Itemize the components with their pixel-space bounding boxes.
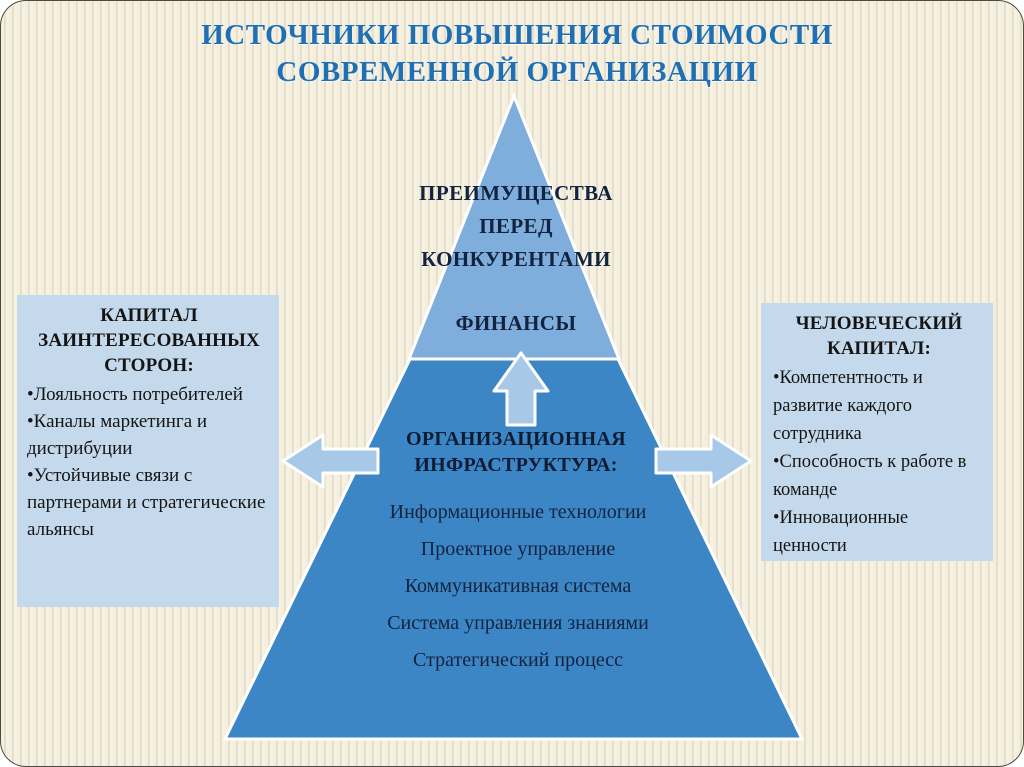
list-item: •Инновационные ценности: [773, 504, 985, 560]
stakeholder-capital-heading-line-1: КАПИТАЛ: [27, 303, 271, 328]
page-title: ИСТОЧНИКИ ПОВЫШЕНИЯ СТОИМОСТИ СОВРЕМЕННО…: [197, 17, 837, 91]
pyramid-bottom-heading-line-2: ИНФРАСТРУКТУРА:: [321, 452, 711, 478]
human-capital-heading-line-2: КАПИТАЛ:: [773, 336, 985, 361]
pyramid-bottom-heading: ОРГАНИЗАЦИОННАЯ ИНФРАСТРУКТУРА:: [321, 426, 711, 478]
list-item: •Лояльность потребителей: [27, 381, 271, 408]
pyramid-bottom-item: Информационные технологии: [283, 494, 753, 531]
pyramid-finance-label: ФИНАНСЫ: [361, 311, 671, 336]
pyramid-bottom-item: Коммуникативная система: [283, 568, 753, 605]
list-item: •Устойчивые связи с партнерами и стратег…: [27, 462, 271, 543]
pyramid-top-heading-line-3: КОНКУРЕНТАМИ: [331, 243, 701, 276]
pyramid-top-heading: ПРЕИМУЩЕСТВА ПЕРЕД КОНКУРЕНТАМИ: [331, 177, 701, 276]
list-item: •Каналы маркетинга и дистрибуции: [27, 408, 271, 462]
human-capital-box: ЧЕЛОВЕЧЕСКИЙ КАПИТАЛ: •Компетентность и …: [761, 303, 993, 561]
page-title-line-1: ИСТОЧНИКИ ПОВЫШЕНИЯ СТОИМОСТИ: [197, 17, 837, 54]
list-item: •Компетентность и развитие каждого сотру…: [773, 364, 985, 448]
stakeholder-capital-heading-line-2: ЗАИНТЕРЕСОВАННЫХ: [27, 328, 271, 353]
pyramid-bottom-heading-line-1: ОРГАНИЗАЦИОННАЯ: [321, 426, 711, 452]
stakeholder-capital-heading-line-3: СТОРОН:: [27, 353, 271, 378]
pyramid-top-heading-line-1: ПРЕИМУЩЕСТВА: [331, 177, 701, 210]
list-item: •Способность к работе в команде: [773, 448, 985, 504]
pyramid-top-heading-line-2: ПЕРЕД: [331, 210, 701, 243]
pyramid-bottom-item: Система управления знаниями: [283, 605, 753, 642]
pyramid-bottom-item: Проектное управление: [283, 531, 753, 568]
stakeholder-capital-list: •Лояльность потребителей •Каналы маркети…: [27, 381, 271, 543]
pyramid-bottom-item-list: Информационные технологии Проектное упра…: [283, 494, 753, 679]
stakeholder-capital-box: КАПИТАЛ ЗАИНТЕРЕСОВАННЫХ СТОРОН: •Лояльн…: [17, 295, 279, 607]
arrow-up-icon: [494, 353, 548, 425]
slide-canvas: ИСТОЧНИКИ ПОВЫШЕНИЯ СТОИМОСТИ СОВРЕМЕННО…: [0, 0, 1024, 767]
human-capital-heading-line-1: ЧЕЛОВЕЧЕСКИЙ: [773, 311, 985, 336]
pyramid-bottom-item: Стратегический процесс: [283, 642, 753, 679]
page-title-line-2: СОВРЕМЕННОЙ ОРГАНИЗАЦИИ: [197, 54, 837, 91]
human-capital-heading: ЧЕЛОВЕЧЕСКИЙ КАПИТАЛ:: [773, 311, 985, 361]
stakeholder-capital-heading: КАПИТАЛ ЗАИНТЕРЕСОВАННЫХ СТОРОН:: [27, 303, 271, 378]
human-capital-list: •Компетентность и развитие каждого сотру…: [773, 364, 985, 560]
